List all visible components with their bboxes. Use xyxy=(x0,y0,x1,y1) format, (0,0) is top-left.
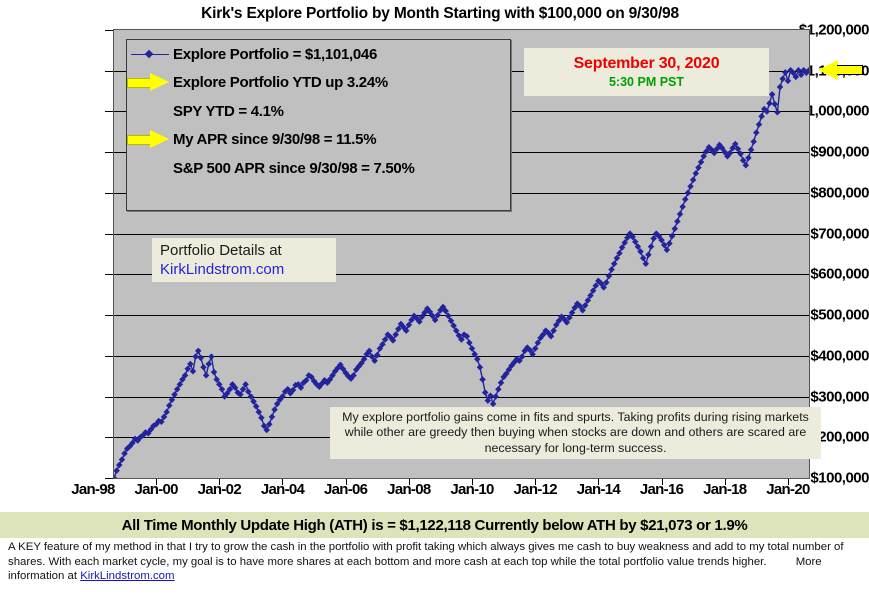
data-point-marker xyxy=(695,164,702,171)
ath-status-bar: All Time Monthly Update High (ATH) is = … xyxy=(0,512,869,538)
x-axis-tick xyxy=(725,479,726,485)
data-point-marker xyxy=(679,204,686,211)
legend-row: Explore Portfolio = $1,101,046 xyxy=(127,40,510,69)
data-point-marker xyxy=(750,138,757,145)
data-point-marker xyxy=(169,397,176,404)
data-point-marker xyxy=(492,393,499,400)
data-point-marker xyxy=(669,233,676,240)
data-point-marker xyxy=(687,183,694,190)
chart-legend: Explore Portfolio = $1,101,046 Explore P… xyxy=(126,39,511,211)
footer-note: A KEY feature of my method in that I try… xyxy=(0,538,869,595)
portfolio-details-link[interactable]: KirkLindstrom.com xyxy=(160,260,336,279)
date-badge: September 30, 2020 5:30 PM PST xyxy=(524,48,769,96)
data-point-marker xyxy=(482,389,489,396)
x-axis-tick xyxy=(535,479,536,485)
legend-label-spy-ytd: SPY YTD = 4.1% xyxy=(173,103,284,120)
data-point-marker xyxy=(166,402,173,409)
legend-label-my-apr: My APR since 9/30/98 = 11.5% xyxy=(173,131,376,148)
data-point-marker xyxy=(674,218,681,225)
legend-label-portfolio-value: Explore Portfolio = $1,101,046 xyxy=(173,46,377,63)
legend-row: My APR since 9/30/98 = 11.5% xyxy=(127,126,510,155)
ath-status-text: All Time Monthly Update High (ATH) is = … xyxy=(122,517,748,534)
chart-container: Kirk's Explore Portfolio by Month Starti… xyxy=(0,0,869,512)
data-point-marker xyxy=(271,406,278,413)
data-point-marker xyxy=(206,361,213,368)
y-axis-tick xyxy=(105,193,113,194)
data-point-marker xyxy=(203,372,210,379)
data-point-marker xyxy=(748,146,755,153)
data-point-marker xyxy=(479,376,486,383)
x-axis-tick xyxy=(409,479,410,485)
data-point-marker xyxy=(495,386,502,393)
legend-row: S&P 500 APR since 9/30/98 = 7.50% xyxy=(127,154,510,183)
data-point-marker xyxy=(693,170,700,177)
data-point-marker xyxy=(256,409,263,416)
data-point-marker xyxy=(758,113,765,120)
data-point-marker xyxy=(611,261,618,268)
data-point-marker xyxy=(258,414,265,421)
legend-arrow-cell xyxy=(127,130,173,149)
data-point-marker xyxy=(606,273,613,280)
y-axis-tick xyxy=(105,397,113,398)
legend-label-sp500-apr: S&P 500 APR since 9/30/98 = 7.50% xyxy=(173,160,415,177)
y-axis-tick xyxy=(105,30,113,31)
y-axis-tick xyxy=(105,234,113,235)
update-date: September 30, 2020 xyxy=(574,55,720,73)
yellow-arrow-icon xyxy=(127,73,169,92)
data-point-marker xyxy=(777,84,784,91)
data-point-marker xyxy=(690,177,697,184)
data-point-marker xyxy=(774,109,781,116)
yellow-arrow-icon xyxy=(818,60,863,80)
x-axis-tick-label: Jan-98 xyxy=(71,481,114,498)
legend-arrow-cell xyxy=(127,73,173,92)
data-point-marker xyxy=(116,462,123,469)
data-point-marker xyxy=(114,467,120,474)
data-point-marker xyxy=(645,252,652,259)
x-axis-tick xyxy=(219,479,220,485)
data-point-marker xyxy=(671,225,678,232)
x-axis-tick xyxy=(282,479,283,485)
data-point-marker xyxy=(266,421,273,428)
data-point-marker xyxy=(200,364,207,371)
data-point-marker xyxy=(685,190,692,197)
line-marker-icon xyxy=(131,49,169,59)
data-point-marker xyxy=(269,414,276,421)
x-axis-tick xyxy=(598,479,599,485)
data-point-marker xyxy=(211,369,218,376)
x-axis-tick xyxy=(156,479,157,485)
yellow-arrow-icon xyxy=(127,130,169,149)
x-axis-tick xyxy=(662,479,663,485)
footer-paragraph: A KEY feature of my method in that I try… xyxy=(8,540,861,584)
y-axis-tick xyxy=(105,111,113,112)
data-point-marker xyxy=(198,355,205,362)
data-point-marker xyxy=(195,348,202,355)
data-point-marker xyxy=(766,100,773,107)
portfolio-details-box: Portfolio Details at KirkLindstrom.com xyxy=(152,238,336,282)
data-point-marker xyxy=(769,91,776,98)
legend-marker-cell xyxy=(127,49,173,59)
y-axis-tick xyxy=(105,437,113,438)
y-axis-tick xyxy=(105,152,113,153)
data-point-marker xyxy=(466,340,473,347)
data-point-marker xyxy=(677,211,684,218)
x-axis-tick xyxy=(472,479,473,485)
y-axis-tick xyxy=(105,71,113,72)
data-point-marker xyxy=(498,379,505,386)
footer-link[interactable]: KirkLindstrom.com xyxy=(80,570,174,582)
data-point-marker xyxy=(608,266,615,273)
x-axis-tick xyxy=(788,479,789,485)
data-point-marker xyxy=(469,345,476,352)
y-axis-tick xyxy=(105,274,113,275)
portfolio-details-label: Portfolio Details at xyxy=(160,241,336,260)
data-point-marker xyxy=(208,353,215,360)
data-point-marker xyxy=(698,159,705,166)
x-axis-tick xyxy=(346,479,347,485)
legend-label-ytd: Explore Portfolio YTD up 3.24% xyxy=(173,74,388,91)
data-point-marker xyxy=(477,364,484,371)
data-point-marker xyxy=(119,456,126,463)
data-point-marker xyxy=(532,345,539,352)
legend-row: SPY YTD = 4.1% xyxy=(127,97,510,126)
y-axis-tick xyxy=(105,356,113,357)
data-point-marker xyxy=(374,352,381,359)
data-point-marker xyxy=(192,353,199,360)
update-time: 5:30 PM PST xyxy=(609,75,684,89)
annotation-note-text: My explore portfolio gains come in fits … xyxy=(336,410,815,457)
data-point-marker xyxy=(772,101,779,108)
data-point-marker xyxy=(640,255,647,262)
data-point-marker xyxy=(682,196,689,203)
data-point-marker xyxy=(643,261,650,268)
y-axis-tick xyxy=(105,315,113,316)
page-title: Kirk's Explore Portfolio by Month Starti… xyxy=(120,5,760,23)
data-point-marker xyxy=(753,129,760,136)
footer-paragraph-text: A KEY feature of my method in that I try… xyxy=(8,541,844,568)
data-point-marker xyxy=(648,243,655,250)
chart-page: Kirk's Explore Portfolio by Month Starti… xyxy=(0,0,869,595)
data-point-marker xyxy=(171,391,178,398)
legend-row: Explore Portfolio YTD up 3.24% xyxy=(127,69,510,98)
data-point-marker xyxy=(666,240,673,247)
y-axis-tick xyxy=(105,478,113,479)
data-point-marker xyxy=(756,121,763,128)
annotation-note-box: My explore portfolio gains come in fits … xyxy=(330,407,821,459)
